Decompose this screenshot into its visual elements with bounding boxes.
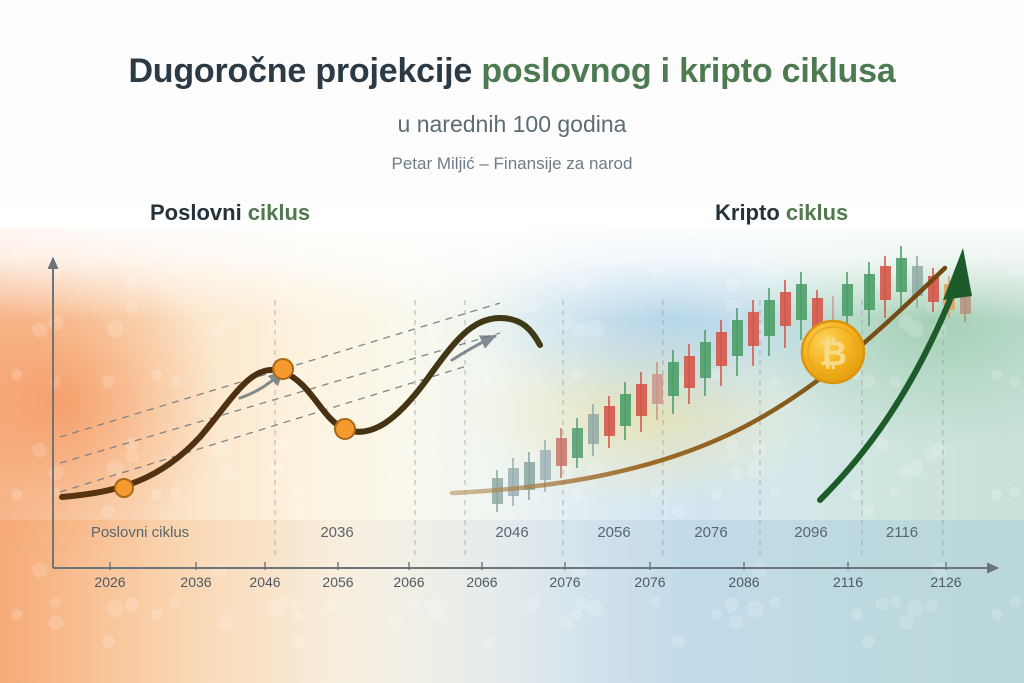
x-axis-tick-label: 2066 [393,574,424,590]
band-label: 2116 [886,524,918,541]
x-axis-tick-label: 2046 [249,574,280,590]
band-label: 2056 [597,524,630,541]
band-label: 2076 [694,524,727,541]
x-axis-tick-label: 2086 [728,574,759,590]
marker-start[interactable] [115,479,133,497]
x-axis-tick-label: 2076 [634,574,665,590]
band-label: 2036 [320,524,353,541]
x-axis-tick-label: 2126 [930,574,961,590]
candlestick-series [492,246,971,512]
x-axis-tick-label: 2056 [322,574,353,590]
x-axis-tick-label: 2036 [180,574,211,590]
x-axis-tick-label: 2066 [466,574,497,590]
band-label: Poslovni ciklus [91,524,189,541]
bitcoin-coin[interactable]: ₿ [802,321,864,383]
band-label: 2046 [495,524,528,541]
infographic-canvas: Dugoročne projekcije poslovnog i kripto … [0,0,1024,683]
x-axis-tick-label: 2026 [94,574,125,590]
chart-plot-area: ₿ [0,0,1024,683]
business-cycle-curve [62,318,540,497]
band-label: 2096 [794,524,827,541]
marker-peak[interactable] [273,359,293,379]
marker-trough[interactable] [335,419,355,439]
trend-channel-lines [60,303,500,492]
bitcoin-symbol: ₿ [819,334,847,374]
x-axis-tick-label: 2116 [833,574,863,590]
x-axis-tick-label: 2076 [549,574,580,590]
